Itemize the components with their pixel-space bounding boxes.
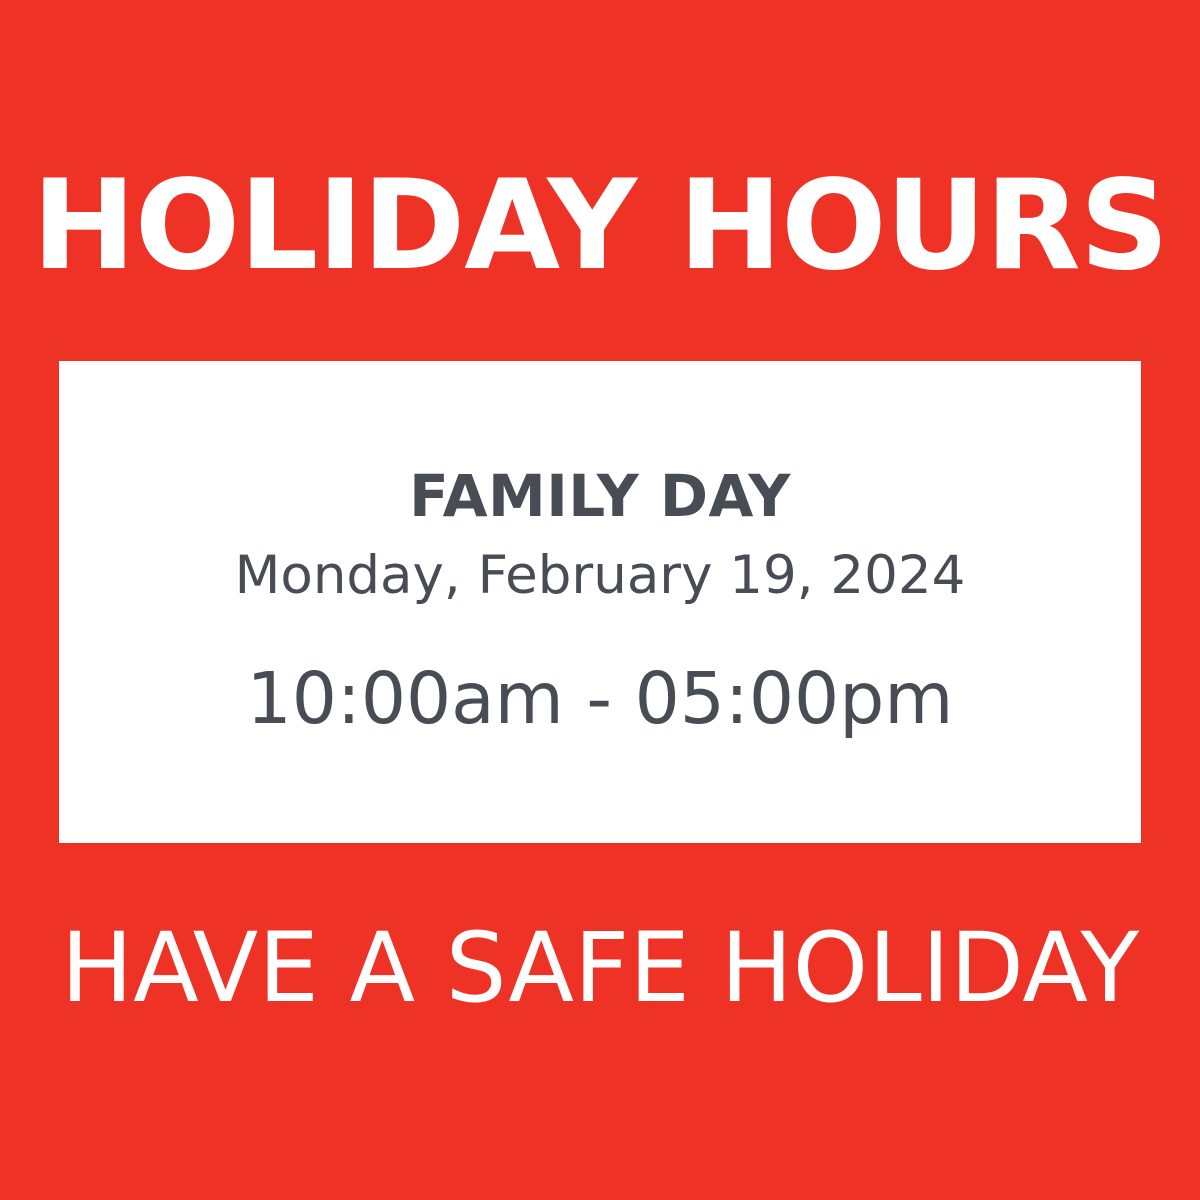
holiday-details-content: FAMILY DAY Monday, February 19, 2024 10:…	[59, 463, 1141, 740]
holiday-hours-range: 10:00am - 05:00pm	[59, 656, 1141, 741]
safety-message: HAVE A SAFE HOLIDAY	[0, 920, 1200, 1016]
holiday-details-card: FAMILY DAY Monday, February 19, 2024 10:…	[59, 361, 1141, 843]
page-title: HOLIDAY HOURS	[0, 164, 1200, 288]
holiday-hours-poster: HOLIDAY HOURS FAMILY DAY Monday, Februar…	[0, 0, 1200, 1200]
holiday-date: Monday, February 19, 2024	[59, 544, 1141, 608]
holiday-name: FAMILY DAY	[59, 463, 1141, 530]
